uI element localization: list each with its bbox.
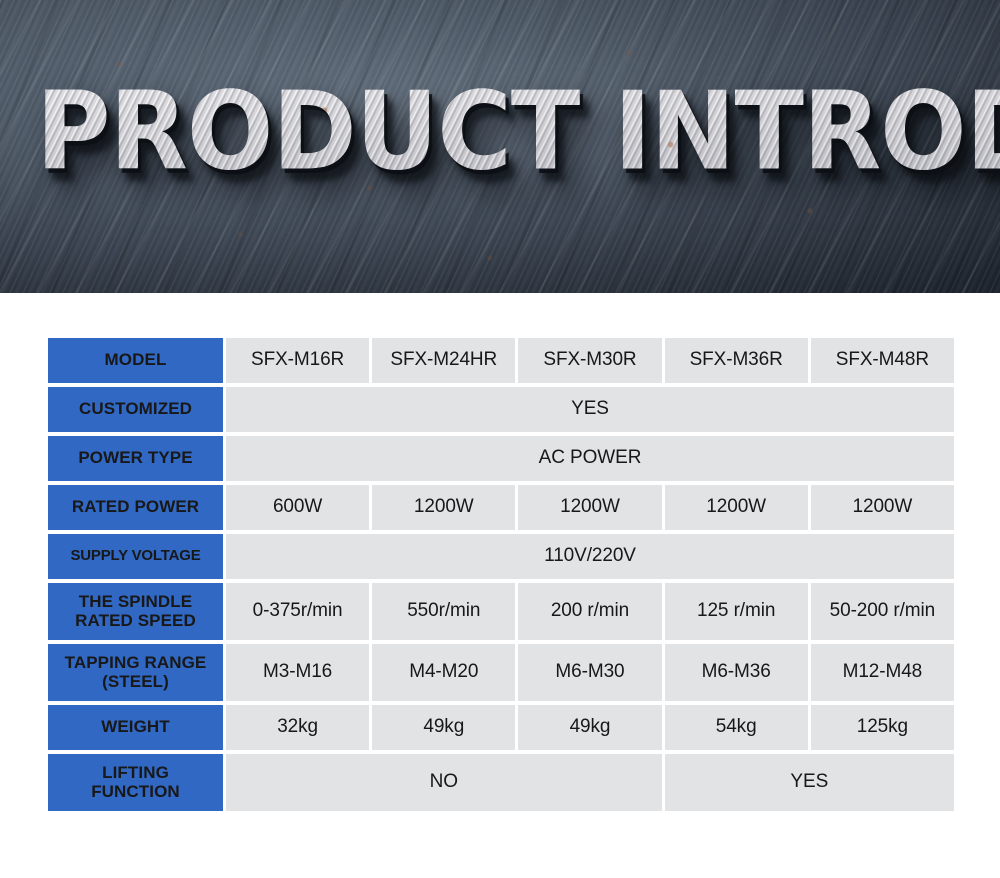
cell-spindle-speed-3: 200 r/min [518,583,661,640]
cell-weight-3: 49kg [518,705,661,750]
table-row-lifting-function: LIFTING FUNCTION NO YES [48,754,954,811]
banner-title: PRODUCT INTRODUCTION [36,78,1000,186]
row-label-supply-voltage: SUPPLY VOLTAGE [48,534,223,579]
cell-model-4: SFX-M36R [665,338,808,383]
cell-rated-power-1: 600W [226,485,369,530]
product-introduction-banner: PRODUCT INTRODUCTION [0,0,1000,293]
cell-model-2: SFX-M24HR [372,338,515,383]
cell-model-3: SFX-M30R [518,338,661,383]
cell-spindle-speed-1: 0-375r/min [226,583,369,640]
cell-model-1: SFX-M16R [226,338,369,383]
spec-table-body: MODEL SFX-M16R SFX-M24HR SFX-M30R SFX-M3… [48,338,954,811]
row-label-customized: CUSTOMIZED [48,387,223,432]
cell-weight-2: 49kg [372,705,515,750]
cell-supply-voltage-all: 110V/220V [226,534,954,579]
cell-power-type-all: AC POWER [226,436,954,481]
cell-model-5: SFX-M48R [811,338,954,383]
row-label-power-type: POWER TYPE [48,436,223,481]
row-label-model: MODEL [48,338,223,383]
row-label-line-2: RATED SPEED [48,612,223,630]
row-label-line-2: (STEEL) [48,673,223,691]
row-label-line-1: THE SPINDLE [48,593,223,611]
cell-spindle-speed-4: 125 r/min [665,583,808,640]
table-row-supply-voltage: SUPPLY VOLTAGE 110V/220V [48,534,954,579]
cell-lifting-function-yes: YES [665,754,954,811]
cell-weight-4: 54kg [665,705,808,750]
row-label-rated-power: RATED POWER [48,485,223,530]
table-row-customized: CUSTOMIZED YES [48,387,954,432]
row-label-line-2: FUNCTION [48,783,223,801]
cell-tapping-range-2: M4-M20 [372,644,515,701]
table-row-model: MODEL SFX-M16R SFX-M24HR SFX-M30R SFX-M3… [48,338,954,383]
cell-tapping-range-3: M6-M30 [518,644,661,701]
table-row-spindle-rated-speed: THE SPINDLE RATED SPEED 0-375r/min 550r/… [48,583,954,640]
cell-spindle-speed-2: 550r/min [372,583,515,640]
product-specification-table: MODEL SFX-M16R SFX-M24HR SFX-M30R SFX-M3… [45,334,957,815]
cell-rated-power-3: 1200W [518,485,661,530]
cell-tapping-range-1: M3-M16 [226,644,369,701]
table-row-rated-power: RATED POWER 600W 1200W 1200W 1200W 1200W [48,485,954,530]
cell-customized-all: YES [226,387,954,432]
row-label-weight: WEIGHT [48,705,223,750]
cell-rated-power-5: 1200W [811,485,954,530]
cell-lifting-function-no: NO [226,754,662,811]
cell-tapping-range-4: M6-M36 [665,644,808,701]
row-label-line-1: TAPPING RANGE [48,654,223,672]
cell-spindle-speed-5: 50-200 r/min [811,583,954,640]
cell-weight-5: 125kg [811,705,954,750]
table-row-weight: WEIGHT 32kg 49kg 49kg 54kg 125kg [48,705,954,750]
row-label-line-1: LIFTING [48,764,223,782]
table-row-tapping-range: TAPPING RANGE (STEEL) M3-M16 M4-M20 M6-M… [48,644,954,701]
spec-table-container: MODEL SFX-M16R SFX-M24HR SFX-M30R SFX-M3… [0,293,1000,815]
cell-weight-1: 32kg [226,705,369,750]
cell-tapping-range-5: M12-M48 [811,644,954,701]
row-label-spindle-rated-speed: THE SPINDLE RATED SPEED [48,583,223,640]
table-row-power-type: POWER TYPE AC POWER [48,436,954,481]
row-label-lifting-function: LIFTING FUNCTION [48,754,223,811]
cell-rated-power-4: 1200W [665,485,808,530]
cell-rated-power-2: 1200W [372,485,515,530]
row-label-tapping-range: TAPPING RANGE (STEEL) [48,644,223,701]
